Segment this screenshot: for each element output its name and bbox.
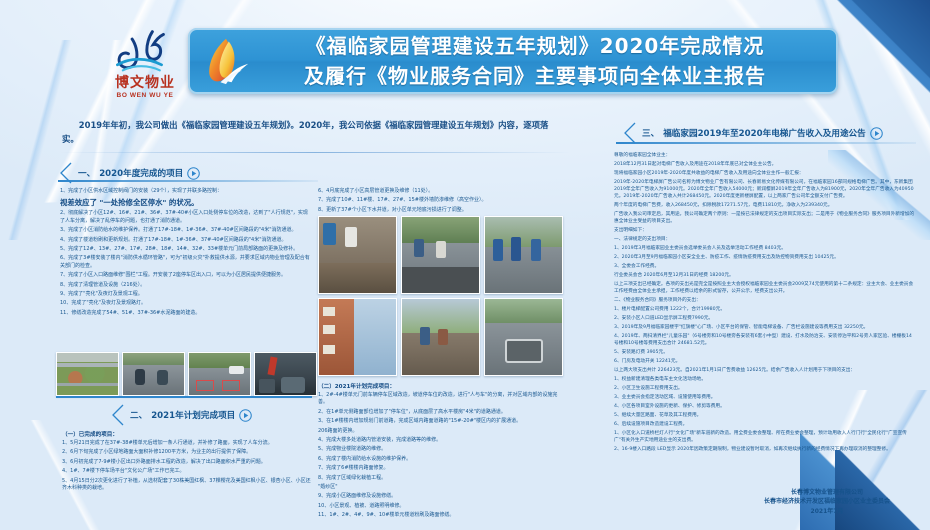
column-one-lead: 视差效应了 "一处抢修全区停水" 的状况。 — [60, 197, 310, 208]
play-circle-icon[interactable] — [239, 409, 252, 422]
list-item: 4、完成大楼多处道路内管道安装，完成道路等的维修。 — [318, 437, 563, 444]
photo-night-crew-working — [254, 352, 317, 396]
chevron-bracket-icon — [622, 122, 638, 144]
list-item: 1、权益新建清理各类电车主文化活动场地。 — [614, 376, 916, 383]
column-one-b-body: （一）已完成的项目： 1、5月21日完成了在37#-38#楼单元后增加一条人行通… — [62, 430, 312, 494]
note-text: 206路面的更换。 — [318, 428, 563, 435]
photo-drainage-well-repair — [484, 298, 563, 376]
list-item: 1、2#-4#楼单元门前车辆停车区域改造，坡道停车位的改造，进行"人与车"的分离… — [318, 392, 563, 407]
list-item: 4、小区各项目室外设施的更新、保护、修剪等费用。 — [614, 403, 916, 410]
list-item: 7、完成了小区入口路面维修"围栏"工程。开安装了2座停车区出入口，可以为小区居民… — [60, 272, 310, 279]
paragraph: 两个年度的电梯广告费，收入268450元，扣除税款17271.57元，电费118… — [614, 202, 916, 209]
list-item: 3、全委会工作经费。 — [614, 263, 916, 270]
list-item: 8、更新了37#个小区下水井道，对小区单元地底污损进行了调整。 — [318, 207, 563, 214]
list-item: 6、完成了3#楼安装了楼内"消防供水循环管路"，可为"初级火灾"扑救提供水源，并… — [60, 255, 310, 270]
list-item: 6、后续设施项目改造建设工程费。 — [614, 421, 916, 428]
list-item: 2、2020年3月至9月福临家园小区安全业主、防疫工作、疫情防疫费用支出及防控物… — [614, 254, 916, 261]
paragraph: 现将福临家园小区2019年-2020年度共收益的电梯广告收入及用途向全体业主作一… — [614, 170, 916, 177]
list-item: 2、6月下旬完成了小区绿地路面大面积补修1200平方米，为业主的出行提供了保障。 — [62, 449, 312, 456]
section-three-header[interactable]: 三、 福临家园2019年至2020年电梯广告收入及用途公告 — [622, 122, 883, 144]
signature-company: 长春博文物业管理有限公司 — [764, 488, 890, 498]
section-one-label: 2020年度完成的项目 — [99, 167, 183, 179]
group-heading: 二、《物业服务合同》服务项目外的支出： — [614, 297, 916, 304]
section-one-marker: 一、 — [78, 167, 95, 179]
list-item: 以上三项支出已经确定。各项的支出光是完全是按照业主大会授权福临家园业主委员会20… — [614, 281, 916, 295]
paragraph: 2018年12月31日起对电梯广告收入及用途在2018年年底已对全体业主公告。 — [614, 161, 916, 168]
photo-grid-middle — [318, 216, 563, 376]
chevron-bracket-icon — [110, 404, 126, 426]
list-item: 1、5月21日完成了在37#-38#楼单元后增加一条人行通道，并补修了路面，实现… — [62, 440, 312, 447]
list-item: 7、完成了10#、11#楼、17#、27#、15#楼外墙防渗维修（高空作业）。 — [318, 197, 563, 204]
payout-heading: 支出明细如下： — [614, 227, 916, 234]
footnote: 1、小区化入口道桥栏灯人行"文化广场"新车道新的改造。用全费业委会整理、所在费业… — [614, 430, 916, 444]
board-header: 博文物业 BO WEN WU YE 《福临家园管理建设五年规 — [0, 0, 930, 112]
section-two-header[interactable]: 二、 2021年计划完成项目 — [110, 404, 252, 426]
list-item: 3、完成了小区消防给水的维护保养。打通了17#-18#、1#-36#、37#-4… — [60, 227, 310, 234]
list-item: 6、4月底完成了小区高层管道更换及维修（11处）。 — [318, 188, 563, 195]
list-item: 5、继续大量区路面、花草及其工程费用。 — [614, 412, 916, 419]
intro-divider — [60, 152, 570, 153]
list-item: 5、完成物业楼院道路的维修。 — [318, 446, 563, 453]
list-item: 2、安装小区人口道LED显示屏工程费7990元。 — [614, 315, 916, 322]
signature-block: 长春博文物业管理有限公司 长春市经济技术开发区福临家园小区业主委员会 2021年… — [764, 488, 890, 517]
group-heading: 一、法律规定的支出项目： — [614, 236, 916, 243]
subsection-heading: （一）已完成的项目： — [62, 430, 312, 438]
photo-aerial-community-view — [56, 352, 119, 396]
company-logo: 博文物业 BO WEN WU YE — [99, 28, 191, 106]
logo-chinese-name: 博文物业 — [99, 75, 191, 91]
list-item: 11、修缮改造完成了54#、51#、37#-36#水泥路面的建造。 — [60, 310, 310, 317]
list-item: 1、完成了小区供水区域控制阀门的安装（29个），实现了并联多路控制： — [60, 188, 310, 195]
logo-english-name: BO WEN WU YE — [99, 92, 191, 99]
column-two-top: 6、4月底完成了小区高层管道更换及维修（11处）。 7、完成了10#、11#楼、… — [318, 188, 563, 216]
list-item: 5、4月15日分2次更化进行了补植，从选材配套了30株美国红枫、37棵樱花及美国… — [62, 478, 312, 493]
list-item: 5、完成了12#、13#、27#、17#、28#、18#、14#、32#、33#… — [60, 246, 310, 253]
list-item: 10、小区景观、植被、道路照明维修。 — [318, 503, 563, 510]
list-item: 3、在1#楼楼内增加规划门前道路，完成区域内路面道路的"15#-20#"楼区内的… — [318, 418, 563, 425]
photo-strip-left-rule — [56, 396, 312, 398]
play-circle-icon[interactable] — [870, 127, 883, 140]
column-three-body: 尊敬的福临家园全体业主： 2018年12月31日起对电梯广告收入及用途在2018… — [614, 152, 916, 455]
column-one-body: 1、完成了小区供水区域控制阀门的安装（29个），实现了并联多路控制： 视差效应了… — [60, 188, 310, 319]
section-one-rule — [58, 180, 318, 182]
list-item: 9、完成了"亮化"及夜灯及景观工程。 — [60, 291, 310, 298]
play-circle-icon[interactable] — [187, 167, 200, 180]
list-item: 5、安装路灯费 3905元。 — [614, 349, 916, 356]
announcement-board: 博文物业 BO WEN WU YE 《福临家园管理建设五年规 — [0, 0, 930, 530]
section-two-label: 2021年计划完成项目 — [151, 409, 235, 421]
bowen-wave-logo-icon — [99, 28, 191, 74]
photo-workers-digging-trench — [318, 216, 397, 294]
list-item: 4、2019年、两扫清界栏"儿童乐园"（6号楼旁和10号楼旁各安装有6套小中型）… — [614, 333, 916, 347]
section-two-marker: 二、 — [130, 409, 147, 421]
paragraph: 广告收入我公司审定后，其用途，我公司确定两个原则：一是按已法律规定的支出项目实际… — [614, 211, 916, 225]
photo-building-facade-repair — [318, 298, 397, 376]
title-banner: 《福临家园管理建设五年规划》2020年完成情况 及履行《物业服务合同》主要事项向… — [188, 28, 838, 94]
list-item: 3、2019年及9月福临家园楼宇"红旗楼"心广场、小区平台的保管、智能电梯设备、… — [614, 324, 916, 331]
list-item: 4、完成了楼道粉刷和更新规划。打通了17#-18#、1#-36#、37#-40#… — [60, 237, 310, 244]
list-item: 3、6月初完成了7-9#楼小区出口外路面排水工程的改造，解决了出口路面积水严重的… — [62, 459, 312, 466]
list-item: 4、1#、7#楼下停车场平台"文化公广场"工作已完工。 — [62, 468, 312, 475]
list-item: 11、1#、2#、4#、9#、10#楼单元楼道粉刷及路面修缮。 — [318, 512, 563, 519]
list-item: 2、小区卫生设施工程费用支出。 — [614, 385, 916, 392]
title-line-2: 及履行《物业服务合同》主要事项向全体业主报告 — [254, 61, 816, 91]
salutation: 尊敬的福临家园全体业主： — [614, 152, 916, 159]
list-item: 7、完成了6#楼楼内路面修复。 — [318, 465, 563, 472]
signature-date: 2021年7月 — [764, 507, 890, 517]
list-item: 行业委员会合 2020年6月至12月31日的经费 18200元。 — [614, 272, 916, 279]
photo-strip-left — [56, 352, 317, 396]
list-item: 2、在1#单元侧路面部位增加了"停车位"，从底面层了高水平楼房"4米"的道路通道… — [318, 409, 563, 416]
note-text: "婚纱区" — [318, 484, 563, 491]
photo-parking-lot-markings — [188, 352, 251, 396]
column-two-body: （二）2021年计划完成项目： 1、2#-4#楼单元门前车辆停车区域改造，坡道停… — [318, 382, 563, 522]
photo-workers-paving-road — [122, 352, 185, 396]
list-item: 以上两大项支出共计 226423元。自2021年1月1日广告费收益 12625元… — [614, 367, 916, 374]
feather-logo-icon — [198, 36, 254, 86]
list-item: 2、彻底解决了小区12#、16#、21#、36#、37#-40#小区入口处侧停车… — [60, 210, 310, 225]
list-item: 8、完成了清理管道及设施（216处）。 — [60, 282, 310, 289]
subsection-heading: （二）2021年计划完成项目： — [318, 382, 563, 390]
title-line-1: 《福临家园管理建设五年规划》2020年完成情况 — [254, 31, 816, 61]
paragraph: 2019年-2020年电梯屏广告公司名称为博文物业广告有限公司、长春新易文化传媒… — [614, 179, 916, 200]
photo-crew-laying-asphalt — [401, 216, 480, 294]
list-item: 8、完成了区域绿化栽植工程。 — [318, 475, 563, 482]
list-item: 1、2019年3月福临家园业主委员会选举委员会人员及选举活动工作经费 8403元… — [614, 245, 916, 252]
list-item: 6、完成了楼内消防给水设施的维护保养。 — [318, 456, 563, 463]
list-item: 6、门房及电动开关 12241元。 — [614, 358, 916, 365]
list-item: 9、完成小区路面维修及设施修缮。 — [318, 493, 563, 500]
footnote: 2、16-9楼入口路段 LED显示 2020年因政策定期限制，物业建设暂时取消，… — [614, 446, 916, 453]
title-text-block: 《福临家园管理建设五年规划》2020年完成情况 及履行《物业服务合同》主要事项向… — [254, 31, 838, 91]
list-item: 3、业主委员会指定活动区域、设施使用等费用。 — [614, 394, 916, 401]
section-three-marker: 三、 — [642, 127, 659, 139]
list-item: 10、完成了"亮化"及夜灯及景观路灯。 — [60, 300, 310, 307]
list-item: 1、楼片电梯配置公司费用 1222个，合计19980元。 — [614, 306, 916, 313]
intro-text: 2019年年初，我公司做出《福临家园管理建设五年规划》。2020年，我公司依据《… — [62, 118, 562, 146]
photo-workers-with-shovels — [484, 216, 563, 294]
intro-paragraph: 2019年年初，我公司做出《福临家园管理建设五年规划》。2020年，我公司依据《… — [62, 118, 562, 146]
photo-planting-greenery-crew — [401, 298, 480, 376]
signature-committee: 长春市经济技术开发区福临家园小区业主委员会 — [764, 497, 890, 507]
section-three-label: 福临家园2019年至2020年电梯广告收入及用途公告 — [663, 127, 866, 139]
section-three-rule — [616, 142, 916, 144]
